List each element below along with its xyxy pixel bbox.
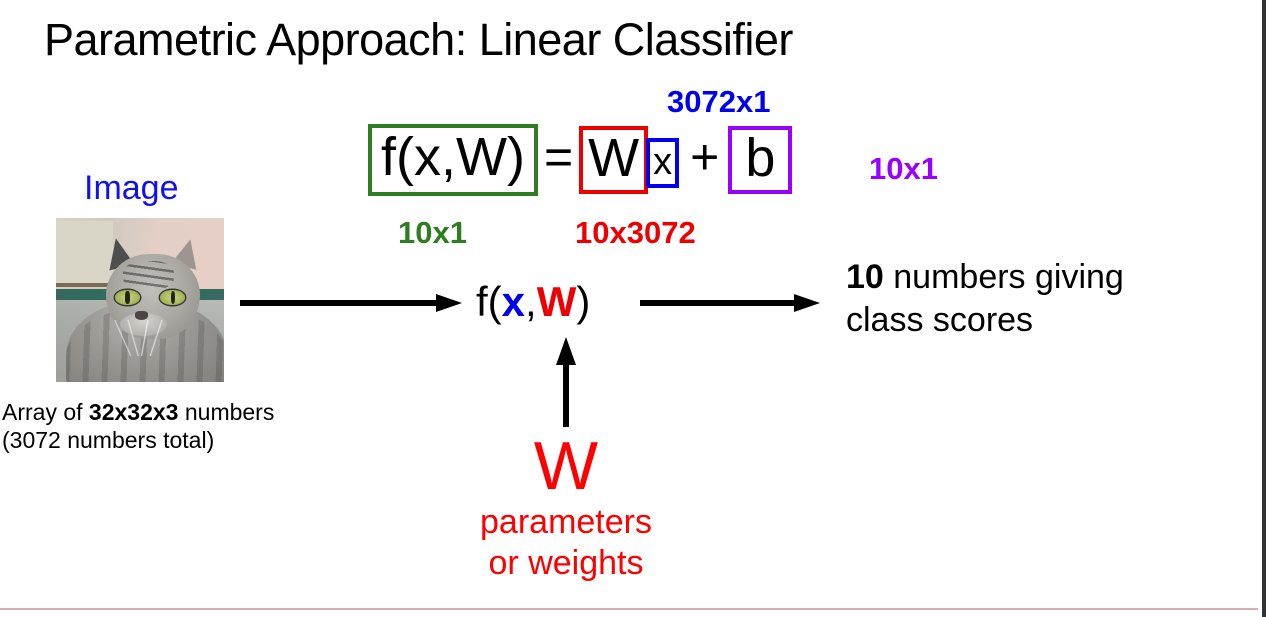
photo-background-wall xyxy=(56,221,113,287)
cat-eye-left xyxy=(115,290,140,305)
weights-label-line-2: or weights xyxy=(448,543,684,584)
dimension-label-x: 3072x1 xyxy=(667,85,770,119)
page-title: Parametric Approach: Linear Classifier xyxy=(44,14,793,66)
cat-whiskers xyxy=(96,320,200,356)
image-caption-line-1: Array of 32x32x3 numbers xyxy=(2,398,274,426)
arrow-function-to-scores-icon xyxy=(640,294,820,312)
cat-eye-right xyxy=(160,290,185,305)
arrow-image-to-function-icon xyxy=(240,294,462,312)
f-term-box: f(x,W) xyxy=(368,124,538,196)
class-scores-line-1: 10 numbers giving xyxy=(846,256,1124,299)
arrow-weights-to-function-icon xyxy=(556,337,576,427)
x-term-box: x xyxy=(646,138,679,188)
class-scores-count: 10 xyxy=(846,258,884,296)
function-suffix: ) xyxy=(576,278,590,325)
class-scores-text: 10 numbers giving class scores xyxy=(846,256,1124,342)
slide-canvas: Parametric Approach: Linear Classifier I… xyxy=(0,0,1270,617)
caption-dimensions: 32x32x3 xyxy=(89,399,179,425)
cat-nose xyxy=(135,311,148,319)
linear-classifier-equation: f(x,W) = W x + b xyxy=(368,124,792,196)
class-scores-line-2: class scores xyxy=(846,299,1124,342)
function-prefix: f( xyxy=(476,278,502,325)
W-term-box: W xyxy=(579,126,648,194)
function-weights-W: W xyxy=(537,278,577,325)
plus-sign: + xyxy=(690,128,719,186)
b-term-label: b xyxy=(745,129,775,187)
caption-prefix: Array of xyxy=(2,399,89,425)
equals-sign: = xyxy=(544,128,573,186)
weights-label-line-1: parameters xyxy=(448,502,684,543)
class-scores-line-1-rest: numbers giving xyxy=(884,258,1124,296)
weights-annotation: W parameters or weights xyxy=(448,430,684,584)
image-label: Image xyxy=(84,168,179,208)
dimension-label-f: 10x1 xyxy=(398,216,467,250)
slide-bottom-rule xyxy=(0,608,1258,610)
weights-symbol: W xyxy=(448,430,684,502)
function-input-x: x xyxy=(502,278,525,325)
caption-suffix: numbers xyxy=(178,399,274,425)
function-comma: , xyxy=(525,278,537,325)
image-caption: Array of 32x32x3 numbers (3072 numbers t… xyxy=(2,398,274,454)
x-term-label: x xyxy=(653,142,672,182)
function-node-label: f(x,W) xyxy=(476,278,590,326)
dimension-label-b: 10x1 xyxy=(869,152,938,186)
cat-forehead-stripes xyxy=(123,261,173,291)
dimension-label-W: 10x3072 xyxy=(575,216,696,250)
b-term-box: b xyxy=(728,126,792,194)
slide-right-border xyxy=(1262,0,1266,617)
image-caption-line-2: (3072 numbers total) xyxy=(2,426,274,454)
f-term-label: f(x,W) xyxy=(381,128,525,186)
cat-photo xyxy=(56,218,224,382)
W-term-label: W xyxy=(588,129,639,187)
